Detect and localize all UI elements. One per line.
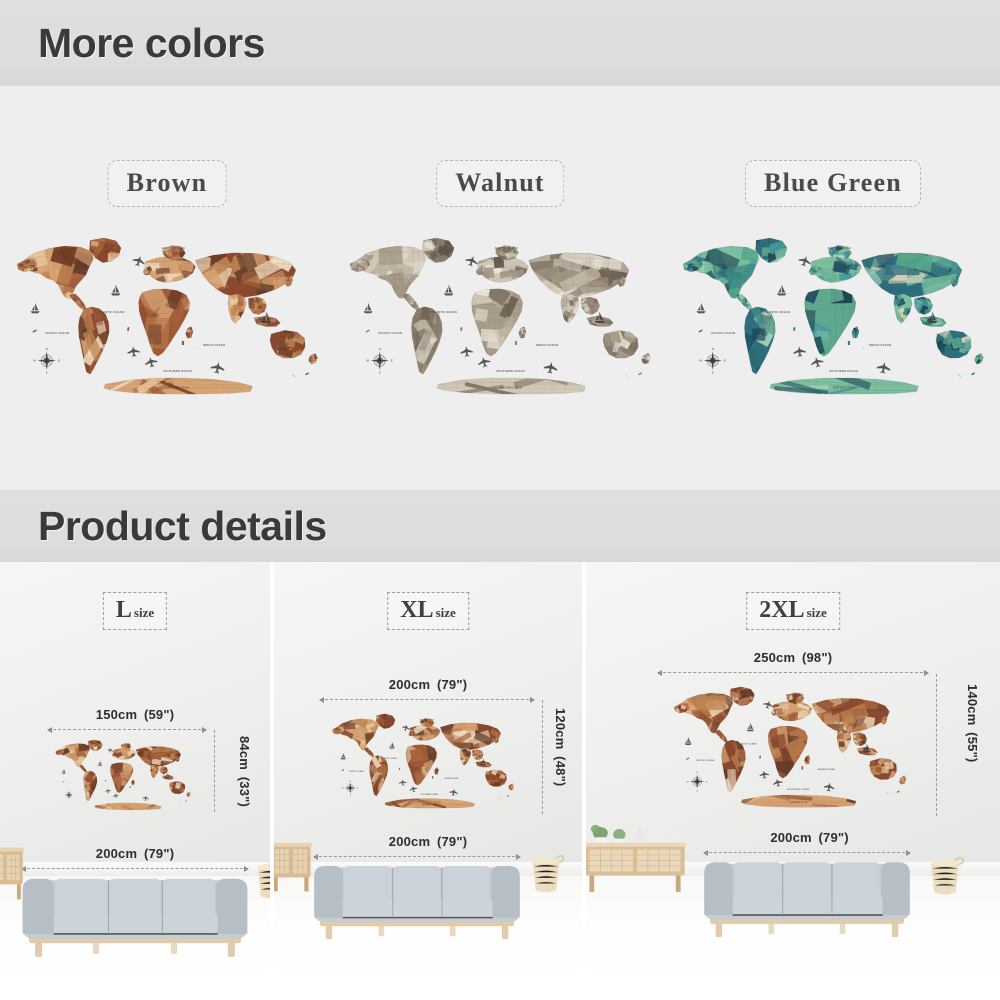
svg-text:W: W	[366, 359, 369, 363]
svg-text:E: E	[706, 781, 708, 783]
svg-text:E: E	[724, 359, 726, 363]
map-height-line-l	[214, 730, 215, 812]
basket-2xl	[924, 844, 966, 900]
svg-text:SOUTHERN OCEAN: SOUTHERN OCEAN	[829, 369, 858, 373]
size-badge-secondary: size	[134, 605, 154, 621]
map-width-line-xl	[320, 699, 534, 700]
sofa-width-label-xl: 200cm (79")	[389, 834, 467, 849]
section-title-more-colors: More colors	[38, 20, 265, 67]
sofa-2xl	[700, 852, 914, 940]
svg-text:ARCTIC OCEAN: ARCTIC OCEAN	[162, 246, 185, 250]
size-badge-xl: XL size	[387, 592, 469, 630]
svg-text:S: S	[696, 790, 698, 792]
wall-map-l	[48, 737, 198, 815]
product-details-section: L size 150cm (59") 84cm (33") 200cm (79"…	[0, 562, 1000, 1000]
svg-text:N: N	[696, 772, 698, 774]
color-label-walnut: Walnut	[436, 160, 564, 207]
svg-text:W: W	[33, 359, 36, 363]
more-colors-section: Brown NESWARCTIC OCEANATLANTIC OCEANPACI…	[0, 86, 1000, 490]
map-width-label-2xl: 250cm (98")	[754, 650, 832, 665]
svg-text:ANTARCTICA: ANTARCTICA	[167, 386, 189, 390]
svg-text:S: S	[350, 795, 352, 797]
size-badge-primary: XL	[400, 597, 433, 624]
world-map-blue-green: NESWARCTIC OCEANATLANTIC OCEANPACIFIC OC…	[678, 221, 988, 416]
map-height-label-2xl: 140cm (55")	[965, 684, 980, 762]
map-height-line-2xl	[936, 674, 937, 816]
svg-text:SOUTHERN OCEAN: SOUTHERN OCEAN	[421, 793, 439, 796]
svg-text:N: N	[379, 347, 381, 351]
map-height-line-xl	[542, 700, 543, 814]
svg-text:INDIAN OCEAN: INDIAN OCEAN	[536, 343, 558, 347]
svg-text:SOUTHERN OCEAN: SOUTHERN OCEAN	[163, 369, 192, 373]
sofa-xl	[310, 856, 524, 942]
color-label-brown: Brown	[108, 160, 227, 207]
svg-text:W: W	[342, 788, 344, 790]
sideboard-2xl	[586, 814, 686, 896]
size-badge-secondary: size	[436, 605, 456, 621]
size-badge-primary: 2XL	[759, 597, 804, 624]
side-cabinet-xl	[274, 830, 312, 894]
svg-text:INDIAN OCEAN: INDIAN OCEAN	[203, 343, 225, 347]
svg-text:E: E	[58, 359, 60, 363]
svg-text:S: S	[46, 370, 48, 374]
room-scene-xl[interactable]: XL size 200cm (79") 120cm (48") NESWARCT…	[274, 562, 582, 1000]
svg-text:PACIFIC OCEAN: PACIFIC OCEAN	[378, 331, 402, 335]
size-badge-primary: L	[116, 597, 132, 624]
room-scene-2xl[interactable]: 2XL size 250cm (98") 140cm (55") NESWARC…	[586, 562, 1000, 1000]
svg-text:S: S	[379, 370, 381, 374]
side-cabinet-l	[0, 834, 24, 902]
svg-text:W: W	[687, 781, 690, 783]
svg-text:E: E	[357, 788, 359, 790]
svg-text:PACIFIC OCEAN: PACIFIC OCEAN	[349, 770, 364, 773]
svg-text:ATLANTIC OCEAN: ATLANTIC OCEAN	[97, 310, 124, 314]
section-header-product-details: Product details	[0, 490, 1000, 562]
svg-text:N: N	[712, 347, 714, 351]
svg-text:W: W	[699, 359, 702, 363]
size-badge-l: L size	[103, 592, 167, 630]
svg-text:E: E	[391, 359, 393, 363]
svg-text:PACIFIC OCEAN: PACIFIC OCEAN	[711, 331, 735, 335]
room-scene-l[interactable]: L size 150cm (59") 84cm (33") 200cm (79"…	[0, 562, 270, 1000]
svg-text:ARCTIC OCEAN: ARCTIC OCEAN	[495, 246, 518, 250]
svg-text:S: S	[712, 370, 714, 374]
world-map-walnut: NESWARCTIC OCEANATLANTIC OCEANPACIFIC OC…	[345, 221, 655, 416]
sofa-l	[18, 868, 252, 960]
map-height-label-l: 84cm (33")	[237, 736, 252, 807]
size-badge-secondary: size	[807, 605, 827, 621]
sofa-width-label-2xl: 200cm (79")	[770, 830, 848, 845]
svg-text:ANTARCTICA: ANTARCTICA	[500, 386, 522, 390]
color-label-blue-green: Blue Green	[745, 160, 921, 207]
svg-text:N: N	[350, 780, 352, 782]
svg-text:ATLANTIC OCEAN: ATLANTIC OCEAN	[430, 310, 457, 314]
side-basket-xl	[526, 842, 566, 898]
sofa-width-label-l: 200cm (79")	[96, 846, 174, 861]
svg-text:ATLANTIC OCEAN: ATLANTIC OCEAN	[763, 310, 790, 314]
svg-text:INDIAN OCEAN: INDIAN OCEAN	[445, 777, 459, 780]
side-basket-l	[252, 848, 270, 904]
size-badge-2xl: 2XL size	[746, 592, 840, 630]
section-header-more-colors: More colors	[0, 0, 1000, 86]
color-variant-brown[interactable]: Brown NESWARCTIC OCEANATLANTIC OCEANPACI…	[0, 86, 334, 490]
map-width-label-xl: 200cm (79")	[389, 677, 467, 692]
world-map-brown: NESWARCTIC OCEANATLANTIC OCEANPACIFIC OC…	[12, 221, 322, 416]
wall-map-2xl: NESWARCTIC OCEANATLANTIC OCEANPACIFIC OC…	[658, 682, 922, 816]
map-width-label-l: 150cm (59")	[96, 707, 174, 722]
svg-text:PACIFIC OCEAN: PACIFIC OCEAN	[45, 331, 69, 335]
svg-text:PACIFIC OCEAN: PACIFIC OCEAN	[696, 759, 715, 762]
svg-text:ARCTIC OCEAN: ARCTIC OCEAN	[828, 246, 851, 250]
section-title-product-details: Product details	[38, 503, 327, 550]
svg-text:SOUTHERN OCEAN: SOUTHERN OCEAN	[496, 369, 525, 373]
svg-text:N: N	[46, 347, 48, 351]
svg-text:INDIAN OCEAN: INDIAN OCEAN	[869, 343, 891, 347]
wall-map-xl: NESWARCTIC OCEANATLANTIC OCEANPACIFIC OC…	[320, 710, 526, 815]
svg-text:INDIAN OCEAN: INDIAN OCEAN	[818, 768, 835, 771]
map-height-label-xl: 120cm (48")	[553, 708, 568, 786]
svg-text:ANTARCTICA: ANTARCTICA	[833, 386, 855, 390]
color-variant-walnut[interactable]: Walnut NESWARCTIC OCEANATLANTIC OCEANPAC…	[334, 86, 666, 490]
svg-text:SOUTHERN OCEAN: SOUTHERN OCEAN	[787, 788, 809, 791]
map-width-line-l	[48, 729, 206, 730]
map-width-line-2xl	[658, 672, 928, 673]
color-variant-blue-green[interactable]: Blue Green NESWARCTIC OCEANATLANTIC OCEA…	[666, 86, 1000, 490]
